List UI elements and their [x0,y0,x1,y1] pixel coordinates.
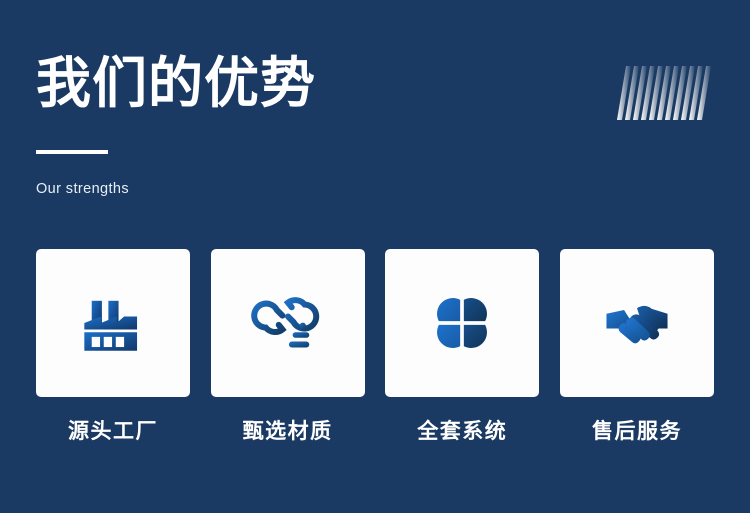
header-block: 我们的优势 Our strengths [36,52,596,198]
advantage-item-system[interactable]: 全套系统 [385,249,539,445]
advantage-item-materials[interactable]: 甄选材质 [211,249,365,445]
title-divider [36,150,108,154]
card-service[interactable] [560,249,714,397]
card-label-service: 售后服务 [592,419,682,445]
card-factory[interactable] [36,249,190,397]
card-system[interactable] [385,249,539,397]
advantage-item-factory[interactable]: 源头工厂 [36,249,190,445]
chain-link-icon [251,286,325,360]
card-label-system: 全套系统 [417,419,507,445]
quatrefoil-petals-icon [425,286,499,360]
card-label-materials: 甄选材质 [243,419,333,445]
card-label-factory: 源头工厂 [68,419,158,445]
advantage-item-service[interactable]: 售后服务 [560,249,714,445]
slanted-stripes-decoration [614,62,712,124]
handshake-icon [600,286,674,360]
advantage-cards: 源头工厂 [36,249,714,445]
card-materials[interactable] [211,249,365,397]
factory-icon [76,286,150,360]
advantages-banner: 我们的优势 Our strengths [0,0,750,513]
page-title: 我们的优势 [36,52,596,114]
page-subtitle: Our strengths [36,180,596,198]
